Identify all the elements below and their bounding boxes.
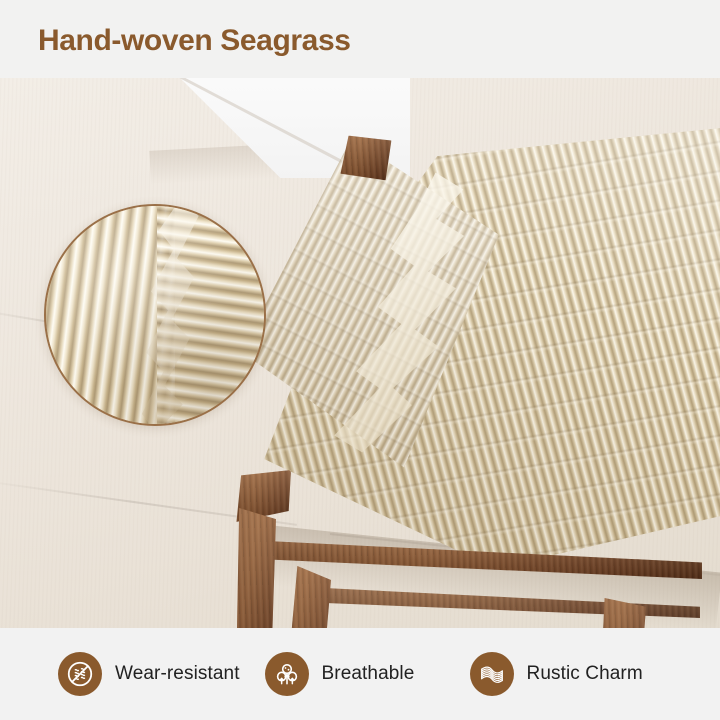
feature-bar: Wear-resistant Breathable: [0, 628, 720, 720]
feature-label: Rustic Charm: [527, 663, 643, 685]
product-photo: [0, 78, 720, 628]
page-title: Hand-woven Seagrass: [38, 24, 351, 58]
feature-label: Wear-resistant: [115, 663, 240, 685]
breathable-badge: [265, 652, 309, 696]
weave-detail-shading: [46, 206, 264, 424]
header-bar: Hand-woven Seagrass: [0, 0, 720, 78]
feature-item-rustic-charm: Rustic Charm: [470, 652, 677, 696]
wear-resistant-badge: [58, 652, 102, 696]
rustic-charm-icon: [477, 659, 507, 689]
feature-label: Breathable: [322, 663, 415, 685]
wear-resistant-icon: [65, 659, 95, 689]
product-feature-card: Hand-woven Seagrass: [0, 0, 720, 720]
bench-front-leg: [236, 508, 276, 628]
feature-list: Wear-resistant Breathable: [0, 652, 720, 696]
feature-item-wear-resistant: Wear-resistant: [58, 652, 265, 696]
feature-item-breathable: Breathable: [265, 652, 470, 696]
breathable-icon: [272, 659, 302, 689]
rustic-charm-badge: [470, 652, 514, 696]
magnified-weave-detail: [44, 204, 266, 426]
